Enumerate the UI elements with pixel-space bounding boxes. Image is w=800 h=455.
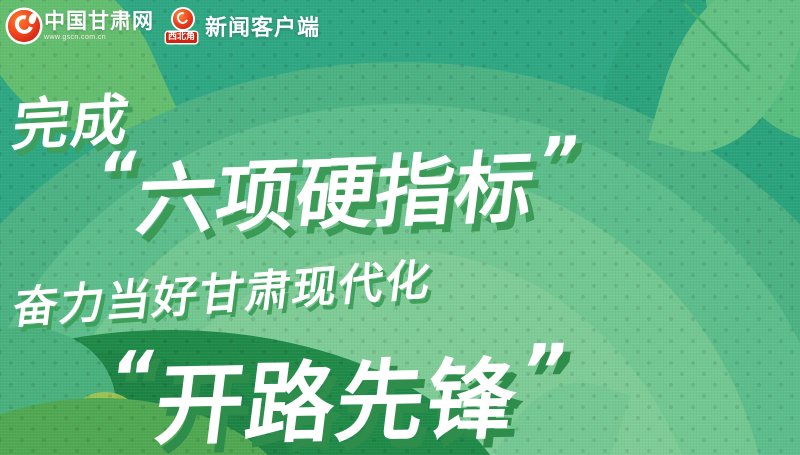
gscn-url: www.gscn.com.cn <box>44 34 154 41</box>
droplet-icon <box>173 9 193 29</box>
headline-line-4-text: 开路先锋 <box>150 348 524 455</box>
logo-gscn[interactable]: 中国甘肃网 www.gscn.com.cn <box>8 10 154 42</box>
headline-line-3: 奋力当好甘肃现代化 <box>10 244 437 337</box>
headline-line-4: “开路先锋” <box>100 328 575 455</box>
xibeijiao-seal: 西北角 <box>166 32 197 43</box>
gscn-text-block: 中国甘肃网 www.gscn.com.cn <box>44 11 154 41</box>
gscn-swirl-mark-icon <box>8 10 40 42</box>
news-client-name: 新闻客户端 <box>205 10 320 42</box>
gscn-name: 中国甘肃网 <box>44 11 154 32</box>
logo-news-client[interactable]: 西北角 新闻客户端 <box>166 10 320 42</box>
poster-banner: 中国甘肃网 www.gscn.com.cn 西北角 新闻客户端 完成 “六项硬指… <box>0 0 800 455</box>
headline-line-2-text: 六项硬指标 <box>132 143 540 247</box>
headline: 完成 “六项硬指标” 奋力当好甘肃现代化 “开路先锋” <box>0 0 800 455</box>
logo-bar: 中国甘肃网 www.gscn.com.cn 西北角 新闻客户端 <box>8 10 320 42</box>
xibeijiao-droplet-mark-icon: 西北角 <box>166 10 200 42</box>
headline-line-4-close-quote: ” <box>515 328 575 413</box>
headline-line-2: “六项硬指标” <box>88 124 585 253</box>
headline-line-2-close-quote: ” <box>533 124 585 199</box>
